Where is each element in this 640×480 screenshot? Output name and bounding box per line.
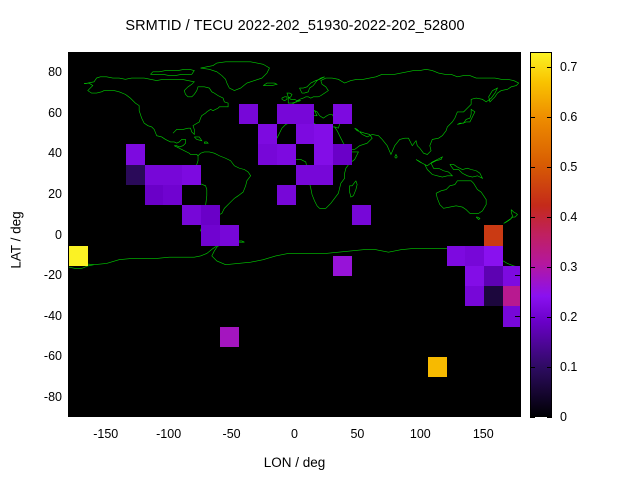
heatmap-cell [465,266,484,286]
heatmap-cell [258,124,277,144]
heatmap-cell [182,165,201,185]
y-tick-mark-right [515,72,521,73]
heatmap-cell [503,286,520,306]
y-tick-mark-right [515,113,521,114]
y-tick-mark [68,113,74,114]
heatmap-cell [296,104,315,124]
y-tick-mark-right [515,235,521,236]
heatmap-cell [296,124,315,144]
y-tick-mark [68,356,74,357]
heatmap-cell [163,165,182,185]
x-tick-mark-top [169,52,170,58]
x-tick-mark [295,411,296,417]
heatmap-cell [314,165,333,185]
y-tick-mark [68,153,74,154]
colorbar-tick-mark-right [547,417,552,418]
y-tick-mark-right [515,397,521,398]
x-tick-mark-top [232,52,233,58]
heatmap-cell [258,144,277,164]
colorbar-tick-mark [530,267,535,268]
x-tick-mark-top [357,52,358,58]
colorbar-tick-mark-right [547,67,552,68]
heatmap-cell [465,246,484,266]
y-tick-label: 60 [26,106,62,120]
map-plot-area [68,52,521,417]
y-tick-mark [68,235,74,236]
y-tick-label: 80 [26,65,62,79]
colorbar-tick-mark-right [547,367,552,368]
heatmap-cell [163,185,182,205]
x-tick-label: -50 [202,427,262,441]
heatmap-cell [145,165,164,185]
heatmap-cell [182,205,201,225]
heatmap-cell [69,246,88,266]
heatmap-cell [333,104,352,124]
x-tick-mark-top [106,52,107,58]
y-tick-mark [68,397,74,398]
heatmap-cell [201,225,220,245]
chart-title: SRMTID / TECU 2022-202_51930-2022-202_52… [0,18,590,34]
x-tick-mark [169,411,170,417]
heatmap-cell [314,144,333,164]
y-tick-mark [68,316,74,317]
y-axis-label: LAT / deg [9,180,24,300]
y-tick-mark [68,72,74,73]
colorbar-tick-label: 0.5 [560,160,577,174]
heatmap-cell [126,144,145,164]
y-tick-mark-right [515,153,521,154]
heatmap-cell-layer [69,53,520,416]
y-tick-label: 20 [26,187,62,201]
colorbar-tick-mark [530,317,535,318]
colorbar-tick-mark-right [547,167,552,168]
x-tick-label: 50 [327,427,387,441]
y-tick-mark [68,194,74,195]
y-tick-label: 40 [26,146,62,160]
colorbar-tick-mark-right [547,267,552,268]
heatmap-cell [220,225,239,245]
x-tick-mark-top [483,52,484,58]
heatmap-cell [484,246,503,266]
y-tick-mark-right [515,194,521,195]
heatmap-cell [126,165,145,185]
x-tick-label: 150 [453,427,513,441]
heatmap-cell [428,357,447,377]
x-tick-label: 0 [265,427,325,441]
colorbar-tick-mark-right [547,117,552,118]
y-tick-mark-right [515,316,521,317]
heatmap-cell [145,185,164,205]
colorbar-tick-mark [530,67,535,68]
x-tick-mark [106,411,107,417]
colorbar-tick-label: 0.2 [560,310,577,324]
heatmap-cell [220,327,239,347]
colorbar-tick-mark [530,167,535,168]
heatmap-cell [296,165,315,185]
heatmap-cell [484,266,503,286]
heatmap-cell [352,205,371,225]
x-tick-label: -100 [139,427,199,441]
heatmap-cell [314,124,333,144]
y-tick-label: 0 [26,228,62,242]
colorbar-tick-mark-right [547,317,552,318]
x-tick-mark [420,411,421,417]
colorbar-tick-label: 0 [560,410,567,424]
heatmap-cell [277,185,296,205]
x-tick-mark [483,411,484,417]
heatmap-cell [239,104,258,124]
x-axis-label: LON / deg [68,455,521,470]
heatmap-cell [484,225,503,245]
y-tick-label: -40 [26,309,62,323]
colorbar-tick-label: 0.7 [560,60,577,74]
heatmap-cell [465,286,484,306]
y-tick-mark-right [515,356,521,357]
x-tick-mark [232,411,233,417]
heatmap-cell [333,256,352,276]
colorbar-tick-mark-right [547,217,552,218]
y-tick-mark [68,275,74,276]
heatmap-cell [484,286,503,306]
x-tick-mark-top [420,52,421,58]
heatmap-cell [333,144,352,164]
heatmap-cell [277,104,296,124]
map-plot-inner [69,53,520,416]
y-tick-label: -60 [26,349,62,363]
x-tick-label: -150 [76,427,136,441]
heatmap-cell [201,205,220,225]
colorbar-tick-mark [530,217,535,218]
colorbar [530,52,552,417]
colorbar-tick-mark [530,367,535,368]
y-tick-mark-right [515,275,521,276]
y-tick-label: -20 [26,268,62,282]
y-tick-label: -80 [26,390,62,404]
chart-root: SRMTID / TECU 2022-202_51930-2022-202_52… [0,0,640,480]
colorbar-tick-mark [530,117,535,118]
heatmap-cell [447,246,466,266]
colorbar-tick-label: 0.1 [560,360,577,374]
colorbar-tick-mark [530,417,535,418]
colorbar-tick-label: 0.4 [560,210,577,224]
x-tick-mark [357,411,358,417]
heatmap-cell [277,144,296,164]
x-tick-label: 100 [390,427,450,441]
colorbar-gradient [531,53,551,416]
colorbar-tick-label: 0.6 [560,110,577,124]
colorbar-tick-label: 0.3 [560,260,577,274]
x-tick-mark-top [295,52,296,58]
